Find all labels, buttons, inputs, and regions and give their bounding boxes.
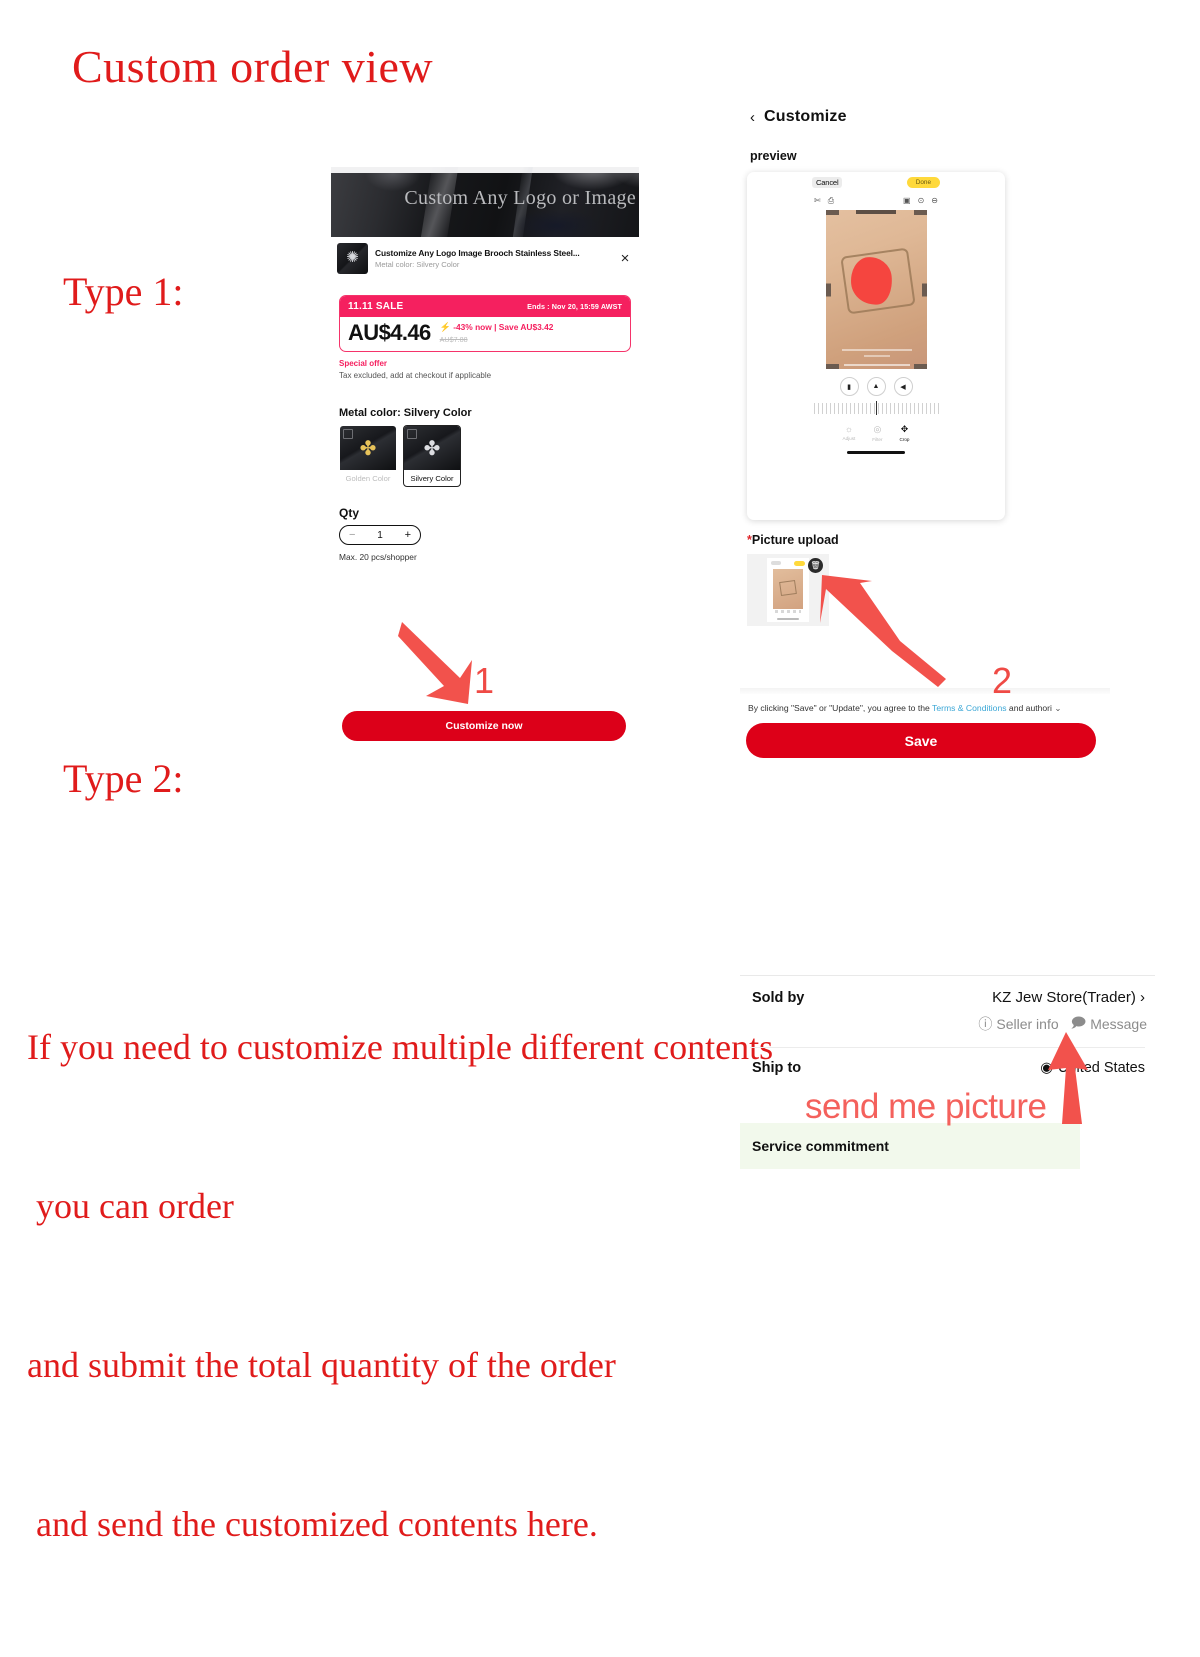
done-button[interactable]: Done: [907, 177, 940, 188]
ship-to-country: United States: [1058, 1060, 1145, 1076]
hero-shadow: [511, 209, 601, 237]
ship-to-value[interactable]: ◉United States: [1040, 1060, 1145, 1076]
swatch-image: ✤: [340, 426, 396, 470]
seller-action-links: ⓘSeller info 🗩Message: [740, 1006, 1155, 1036]
qty-note: Max. 20 pcs/shopper: [339, 552, 417, 562]
message-button[interactable]: 🗩Message: [1071, 1012, 1147, 1036]
screenshot-root: Custom order view Type 1: Type 2: If you…: [0, 0, 1200, 1200]
seller-store-link[interactable]: KZ Jew Store(Trader) ›: [992, 989, 1145, 1006]
photo-caption-line: [844, 364, 910, 366]
image-badge-icon: [343, 429, 353, 439]
price-row: AU$4.46 ⚡ -43% now | Save AU$3.42 AU$7.8…: [340, 317, 630, 351]
crop-edge-handle: [826, 283, 831, 296]
terms-section: By clicking "Save" or "Update", you agre…: [740, 688, 1110, 758]
page-title: Customize: [764, 108, 847, 126]
annotation-type-1: Type 1:: [63, 268, 184, 315]
phone-circle-controls: ▮ ▲ ◀: [798, 377, 954, 396]
qty-label: Qty: [339, 506, 359, 520]
crop-frame-icon[interactable]: ▣: [903, 196, 911, 205]
phone-topbar: Cancel Done: [798, 172, 954, 193]
tab-crop[interactable]: ✥ Crop: [900, 424, 910, 442]
customize-now-button[interactable]: Customize now: [342, 711, 626, 741]
thumb-home-indicator: [777, 618, 799, 620]
thumb-cancel-chip: [771, 561, 781, 565]
preview-card[interactable]: Cancel Done ✄ ⎙ ▣ ⊙ ⊖: [747, 172, 1005, 520]
slider-needle: [876, 401, 877, 415]
photo-top-handle: [856, 210, 896, 214]
service-commitment-label: Service commitment: [752, 1138, 889, 1154]
thumb-slider: [775, 610, 801, 613]
qty-decrement-button[interactable]: −: [349, 530, 355, 541]
terms-and-conditions-link[interactable]: Terms & Conditions: [932, 703, 1007, 713]
hero-caption: Custom Any Logo or Image: [404, 187, 636, 210]
tab-label: Adjust: [843, 436, 856, 441]
photo-caption-line: [842, 349, 912, 351]
swatch-silvery[interactable]: ✤ Silvery Color: [403, 425, 461, 487]
product-text-block: Customize Any Logo Image Brooch Stainles…: [375, 248, 615, 269]
product-hero-image: Custom Any Logo or Image: [331, 167, 639, 237]
brush-size-button[interactable]: ▮: [840, 377, 859, 396]
annotation-type-2: Type 2:: [63, 755, 184, 802]
tab-label: Crop: [900, 437, 910, 442]
metal-color-label: Metal color: Silvery Color: [339, 407, 472, 419]
eraser-button[interactable]: ◀: [894, 377, 913, 396]
photo-caption-line: [864, 355, 890, 357]
crop-edge-handle: [922, 283, 927, 296]
brooch-icon: ✤: [424, 439, 441, 459]
product-thumbnail[interactable]: ✺: [337, 243, 368, 274]
annotation-paragraph: If you need to customize multiple differ…: [27, 915, 773, 1657]
preview-label: preview: [750, 149, 1110, 163]
message-icon: 🗩: [1071, 1012, 1087, 1036]
tax-note: Tax excluded, add at checkout if applica…: [339, 371, 491, 380]
uploaded-image-thumb[interactable]: 🗑: [747, 554, 829, 626]
step-number-1: 1: [474, 660, 494, 702]
metal-color-swatches: ✤ Golden Color ✤ Silvery Color: [339, 425, 461, 487]
info-icon: ⓘ: [978, 1014, 992, 1034]
bolt-icon: ⚡: [440, 322, 451, 332]
crop-corner: [826, 364, 839, 369]
special-offer-label: Special offer: [339, 359, 387, 368]
customize-header: ‹ Customize: [740, 108, 1110, 126]
discount-text: -43% now | Save AU$3.42: [453, 322, 553, 332]
quantity-stepper[interactable]: − 1 +: [339, 525, 421, 545]
crop-corner: [914, 210, 927, 215]
annotation-paragraph-line: you can order: [27, 1180, 773, 1233]
thumb-tattoo-outline: [779, 580, 797, 596]
current-price: AU$4.46: [348, 322, 431, 344]
annotation-send-me-picture: send me picture: [805, 1087, 1047, 1127]
picture-upload-label: *Picture upload: [747, 533, 1110, 547]
annotation-paragraph-line: and submit the total quantity of the ord…: [27, 1339, 773, 1392]
swatch-label: Golden Color: [340, 470, 396, 486]
brush-button[interactable]: ▲: [867, 377, 886, 396]
swatch-golden[interactable]: ✤ Golden Color: [339, 425, 397, 487]
phone-toolbar: ✄ ⎙ ▣ ⊙ ⊖: [798, 193, 954, 208]
location-pin-icon: ◉: [1040, 1060, 1053, 1076]
save-button[interactable]: Save: [746, 723, 1096, 758]
product-variant: Metal color: Silvery Color: [375, 260, 615, 269]
tab-filter[interactable]: ◎ Filter: [872, 424, 882, 442]
phone-tools-right: ▣ ⊙ ⊖: [903, 196, 938, 205]
phone-screenshot: Cancel Done ✄ ⎙ ▣ ⊙ ⊖: [798, 172, 954, 520]
step-number-2: 2: [992, 660, 1012, 702]
sale-banner: 11.11 SALE Ends : Nov 20, 15:59 AWST: [340, 296, 630, 317]
crop-corner: [826, 210, 839, 215]
minus-circle-icon[interactable]: ⊖: [931, 196, 938, 205]
price-details: ⚡ -43% now | Save AU$3.42 AU$7.88: [440, 322, 554, 344]
message-label: Message: [1090, 1016, 1147, 1032]
original-price: AU$7.88: [440, 335, 554, 344]
terms-text: By clicking "Save" or "Update", you agre…: [740, 694, 1110, 714]
thumb-done-chip: [794, 561, 805, 566]
home-indicator: [847, 451, 905, 454]
qty-increment-button[interactable]: +: [405, 530, 411, 541]
seller-block: Sold by KZ Jew Store(Trader) › ⓘSeller i…: [740, 975, 1155, 1076]
swatch-label: Silvery Color: [404, 470, 460, 486]
annotation-paragraph-line: If you need to customize multiple differ…: [27, 1021, 773, 1074]
sale-box: 11.11 SALE Ends : Nov 20, 15:59 AWST AU$…: [339, 295, 631, 352]
product-name: Customize Any Logo Image Brooch Stainles…: [375, 248, 615, 258]
qty-value: 1: [377, 530, 383, 541]
thumb-photo: [773, 569, 803, 609]
sold-by-label: Sold by: [752, 990, 804, 1006]
delete-icon[interactable]: 🗑: [808, 558, 823, 573]
sale-ends: Ends : Nov 20, 15:59 AWST: [527, 302, 622, 311]
hero-top-strip: [331, 167, 639, 173]
sold-by-row: Sold by KZ Jew Store(Trader) ›: [740, 976, 1155, 1006]
phone-photo: [826, 210, 927, 369]
phone-tools-left: ✄ ⎙: [814, 196, 834, 206]
upload-label-text: Picture upload: [752, 533, 839, 547]
phone-tab-bar: ☼ Adjust ◎ Filter ✥ Crop: [798, 424, 954, 442]
discount-line: ⚡ -43% now | Save AU$3.42: [440, 322, 554, 333]
close-icon[interactable]: ×: [615, 251, 635, 266]
chevron-down-icon[interactable]: ⌄: [1054, 703, 1061, 713]
image-badge-icon: [407, 429, 417, 439]
crop-corner: [914, 364, 927, 369]
thumb-phone-preview: [767, 558, 809, 622]
adjust-icon: ☼: [845, 424, 853, 434]
product-summary-row: ✺ Customize Any Logo Image Brooch Stainl…: [331, 237, 639, 279]
ship-to-label: Ship to: [752, 1060, 801, 1076]
sale-badge: 11.11 SALE: [348, 301, 403, 312]
settings-icon[interactable]: ⊙: [918, 196, 925, 205]
filter-icon: ◎: [873, 424, 881, 435]
cut-icon[interactable]: ✄: [814, 196, 821, 206]
seller-info-button[interactable]: ⓘSeller info: [978, 1012, 1058, 1036]
size-slider[interactable]: [814, 403, 939, 414]
tab-adjust[interactable]: ☼ Adjust: [843, 424, 856, 442]
terms-suffix: and authori: [1007, 703, 1052, 713]
ship-to-row[interactable]: Ship to ◉United States: [740, 1048, 1155, 1076]
cancel-button[interactable]: Cancel: [812, 177, 842, 188]
seller-info-label: Seller info: [996, 1016, 1058, 1032]
customize-panel: ‹ Customize preview Cancel Done ✄ ⎙ ▣ ⊙: [740, 108, 1110, 758]
back-icon[interactable]: ‹: [750, 110, 755, 125]
brooch-icon: ✤: [360, 439, 377, 459]
terms-prefix: By clicking "Save" or "Update", you agre…: [748, 703, 932, 713]
seller-store-name: KZ Jew Store(Trader): [992, 989, 1136, 1006]
swatch-image: ✤: [404, 426, 460, 470]
brooch-icon: ✺: [346, 250, 359, 265]
copy-icon[interactable]: ⎙: [828, 196, 834, 206]
annotation-title: Custom order view: [72, 40, 433, 93]
chevron-right-icon: ›: [1140, 989, 1145, 1006]
annotation-paragraph-line: and send the customized contents here.: [27, 1498, 773, 1551]
tab-label: Filter: [872, 437, 882, 442]
crop-icon: ✥: [901, 424, 909, 435]
